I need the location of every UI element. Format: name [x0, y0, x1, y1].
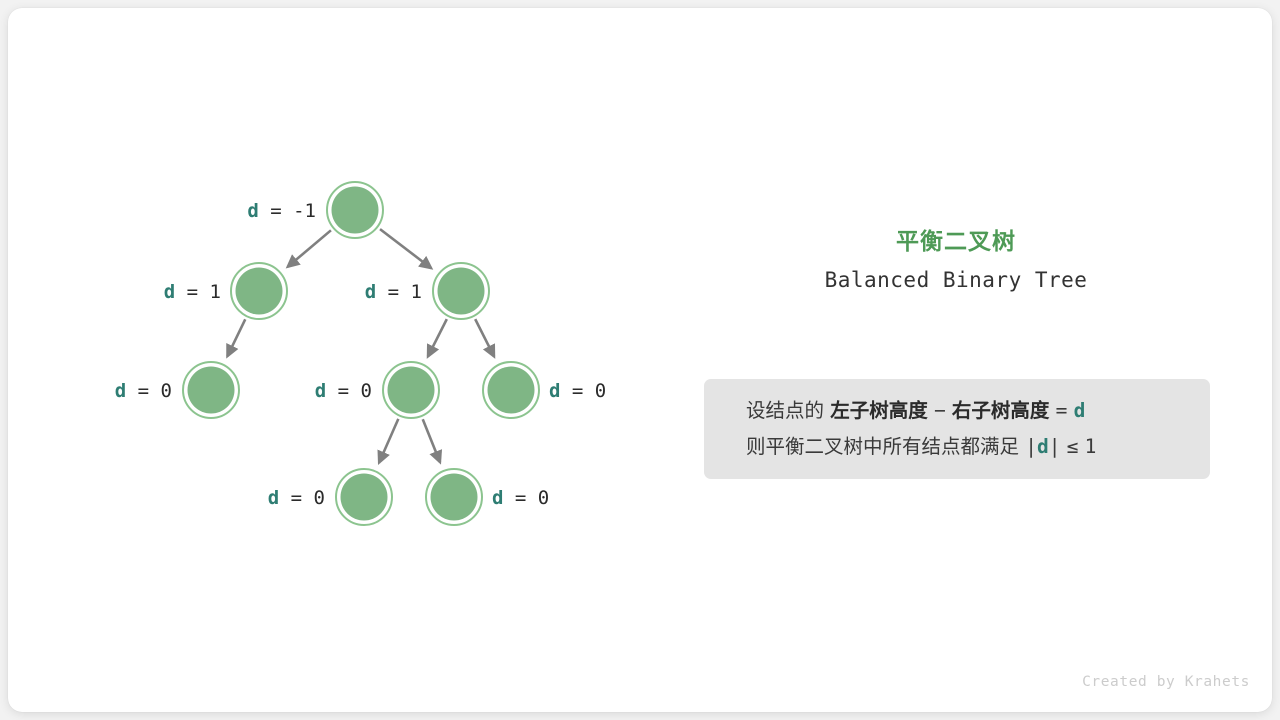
tree-node[interactable]: [341, 474, 388, 521]
tree-edge: [423, 419, 440, 462]
balance-value: = -1: [270, 200, 316, 222]
node-balance-label: d = 0: [549, 380, 606, 402]
balance-variable: d: [549, 380, 572, 402]
tree-node[interactable]: [488, 367, 535, 414]
balance-value: = 0: [338, 380, 372, 402]
binary-tree-diagram: d = -1d = 1d = 1d = 0d = 0d = 0d = 0d = …: [8, 8, 1272, 712]
definition-prefix: 设结点的: [746, 399, 824, 422]
term-right-subtree-height: 右子树高度: [952, 399, 1050, 422]
equals-sign: =: [1056, 399, 1068, 422]
balance-value: = 0: [515, 487, 549, 509]
tree-node[interactable]: [188, 367, 235, 414]
node-balance-label: d = -1: [247, 200, 316, 222]
balance-value: = 0: [572, 380, 606, 402]
balance-variable: d: [315, 380, 338, 402]
balance-value: = 0: [291, 487, 325, 509]
balance-variable: d: [115, 380, 138, 402]
tree-edge: [379, 419, 398, 463]
tree-node[interactable]: [236, 268, 283, 315]
balance-variable: d: [247, 200, 270, 222]
tree-edge: [475, 319, 494, 356]
node-balance-label: d = 0: [268, 487, 325, 509]
definition-box: 设结点的 左子树高度 − 右子树高度 = d 则平衡二叉树中所有结点都满足 |d…: [704, 379, 1210, 479]
node-balance-label: d = 0: [315, 380, 372, 402]
tree-edge: [428, 319, 447, 356]
node-balance-label: d = 0: [492, 487, 549, 509]
balance-variable: d: [492, 487, 515, 509]
limit-value: 1: [1085, 435, 1097, 458]
credit-text: Created by Krahets: [1082, 674, 1250, 690]
definition-line-2: 则平衡二叉树中所有结点都满足 |d| ≤ 1: [726, 429, 1188, 465]
balance-variable: d: [268, 487, 291, 509]
node-balance-label: d = 1: [365, 281, 422, 303]
balance-value: = 1: [187, 281, 221, 303]
tree-edge: [227, 319, 245, 356]
node-balance-label: d = 1: [164, 281, 221, 303]
page-subtitle: Balanced Binary Tree: [696, 268, 1216, 292]
condition-prefix: 则平衡二叉树中所有结点都满足: [746, 435, 1019, 458]
abs-bar-close: |: [1049, 435, 1061, 458]
node-balance-label: d = 0: [115, 380, 172, 402]
info-panel: 平衡二叉树 Balanced Binary Tree: [696, 228, 1216, 292]
relation-leq: ≤: [1067, 435, 1079, 458]
balance-variable: d: [365, 281, 388, 303]
minus-sign: −: [934, 399, 946, 422]
tree-edge: [288, 230, 331, 267]
variable-d-abs: d: [1037, 435, 1049, 458]
tree-node[interactable]: [332, 187, 379, 234]
variable-d: d: [1074, 399, 1086, 422]
tree-edge: [380, 229, 431, 268]
page-card: d = -1d = 1d = 1d = 0d = 0d = 0d = 0d = …: [8, 8, 1272, 712]
tree-node-labels: d = -1d = 1d = 1d = 0d = 0d = 0d = 0d = …: [115, 200, 606, 509]
tree-node[interactable]: [431, 474, 478, 521]
tree-node[interactable]: [388, 367, 435, 414]
tree-nodes: [183, 182, 539, 525]
abs-bar-open: |: [1025, 435, 1037, 458]
tree-node[interactable]: [438, 268, 485, 315]
balance-variable: d: [164, 281, 187, 303]
balance-value: = 1: [388, 281, 422, 303]
definition-line-1: 设结点的 左子树高度 − 右子树高度 = d: [726, 393, 1188, 429]
term-left-subtree-height: 左子树高度: [830, 399, 928, 422]
page-title: 平衡二叉树: [696, 228, 1216, 257]
balance-value: = 0: [138, 380, 172, 402]
